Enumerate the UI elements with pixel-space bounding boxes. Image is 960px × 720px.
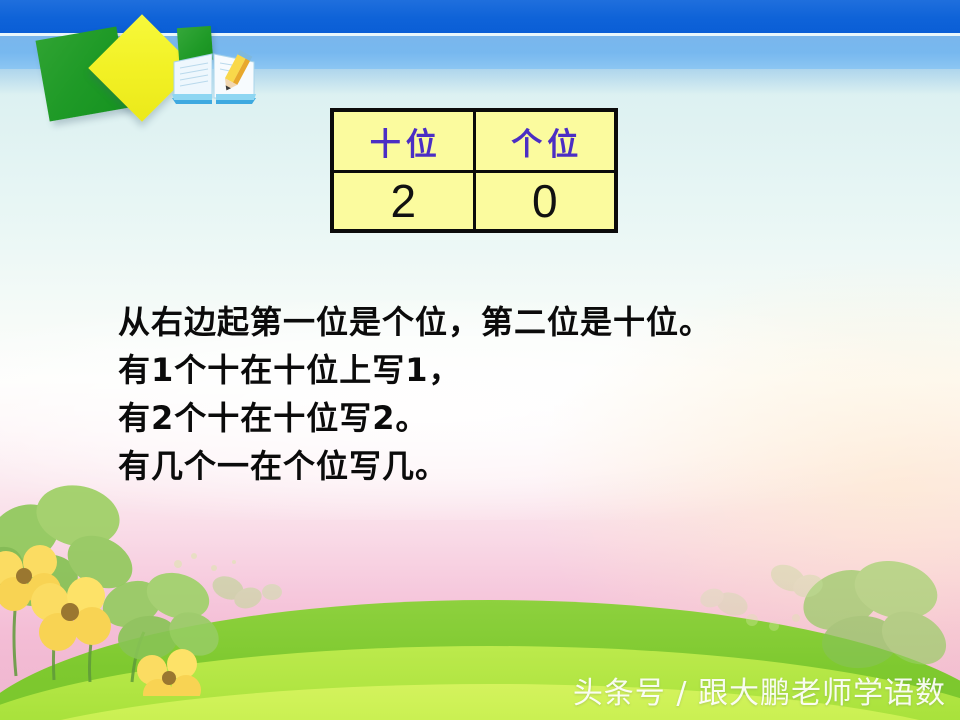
table-header-tens: 十位 [332,110,474,172]
slide-canvas: 十位 个位 2 0 从右边起第一位是个位，第二位是十位。 有1个十在十位上写1，… [0,0,960,720]
table-value-row: 2 0 [332,172,616,232]
lesson-text-block: 从右边起第一位是个位，第二位是十位。 有1个十在十位上写1， 有2个十在十位写2… [118,298,908,490]
watermark-text: 头条号 / 跟大鹏老师学语数 [573,668,946,712]
table-header-ones: 个位 [474,110,616,172]
lesson-text-line-3: 有2个十在十位写2。 [118,394,908,442]
place-value-table: 十位 个位 2 0 [330,108,618,233]
table-value-tens: 2 [332,172,474,232]
table-value-ones: 0 [474,172,616,232]
table-header-row: 十位 个位 [332,110,616,172]
lesson-text-line-2: 有1个十在十位上写1， [118,346,908,394]
clover-flowers-left [0,476,312,696]
lesson-text-line-1: 从右边起第一位是个位，第二位是十位。 [118,298,908,346]
open-book-icon [170,48,258,104]
